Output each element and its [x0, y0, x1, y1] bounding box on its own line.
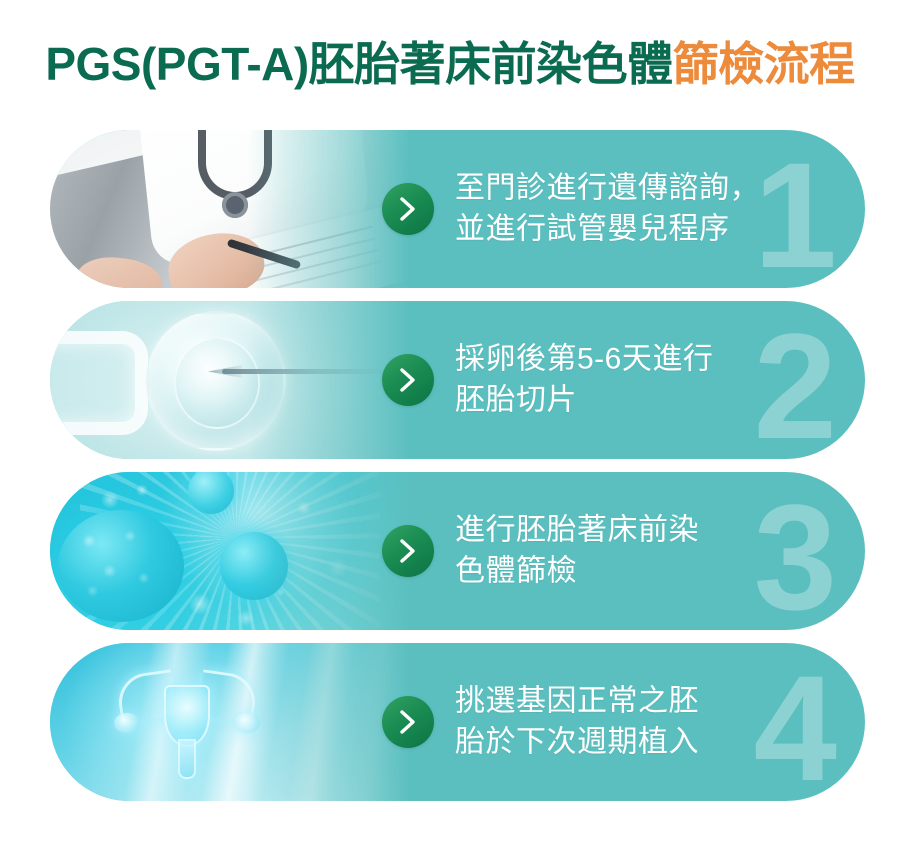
clipboard-shape	[196, 201, 410, 288]
lab-coat-shape	[139, 130, 373, 267]
step-text-3: 進行胚胎著床前染 色體篩檢	[455, 510, 699, 593]
infographic-page: PGS(PGT-A)胚胎著床前染色體篩檢流程 1	[0, 0, 900, 841]
page-title-main: PGS(PGT-A)胚胎著床前染色體	[45, 38, 672, 90]
oocyte-shape	[146, 311, 286, 451]
step-number-watermark-1: 1	[754, 140, 837, 288]
hand-shape	[163, 226, 268, 288]
step-number-watermark-3: 3	[754, 482, 837, 630]
step-text-2: 採卵後第5-6天進行 胚胎切片	[455, 339, 713, 422]
light-rays-shape	[80, 472, 380, 630]
light-streaks-shape	[50, 643, 410, 801]
page-title: PGS(PGT-A)胚胎著床前染色體篩檢流程	[0, 38, 900, 91]
blastocyst-cells-photo	[50, 472, 410, 630]
step-text-4: 挑選基因正常之胚 胎於下次週期植入	[455, 681, 699, 764]
pen-shape	[227, 238, 302, 269]
cell-large-shape	[58, 510, 184, 622]
stethoscope-icon	[198, 130, 272, 200]
doctor-consultation-photo	[50, 130, 410, 288]
step-card-2[interactable]: 2 採卵後第5-6天進行 胚胎切片	[50, 301, 865, 459]
cervix-shape	[178, 739, 196, 779]
step-list: 1 至門診進行遺傳諮詢， 並進行試管嬰兒程序 2	[50, 130, 865, 801]
embryo-biopsy-micropipette-photo	[50, 301, 410, 459]
chevron-right-icon[interactable]	[382, 183, 434, 235]
page-title-accent: 篩檢流程	[673, 38, 855, 90]
cell-medium-shape	[220, 532, 288, 600]
chevron-right-icon[interactable]	[382, 525, 434, 577]
ovary-right-shape	[234, 713, 260, 733]
fallopian-tube-left-shape	[115, 669, 177, 722]
oocyte-inner-shape	[174, 337, 260, 429]
cell-small-shape	[188, 472, 234, 514]
step-image-4	[50, 643, 410, 801]
laptop-shape	[50, 142, 200, 288]
step-image-2	[50, 301, 410, 459]
hand-shape-secondary	[74, 254, 165, 288]
fallopian-tube-right-shape	[197, 669, 259, 722]
step-number-watermark-4: 4	[754, 653, 837, 801]
uterus-body-shape	[164, 685, 210, 747]
step-card-3[interactable]: 3 進行胚胎著床前染 色體篩檢	[50, 472, 865, 630]
chevron-right-icon[interactable]	[382, 696, 434, 748]
bokeh-particles-shape	[50, 472, 410, 630]
ovary-left-shape	[114, 713, 140, 733]
step-number-watermark-2: 2	[754, 311, 837, 459]
step-image-3	[50, 472, 410, 630]
step-card-1[interactable]: 1 至門診進行遺傳諮詢， 並進行試管嬰兒程序	[50, 130, 865, 288]
chevron-right-icon[interactable]	[382, 354, 434, 406]
holding-pipette-shape	[50, 331, 148, 435]
needle-tip-shape	[208, 365, 242, 378]
step-text-1: 至門診進行遺傳諮詢， 並進行試管嬰兒程序	[455, 168, 760, 251]
uterus-implantation-photo	[50, 643, 410, 801]
stethoscope-head-icon	[222, 192, 248, 218]
uterus-icon	[112, 671, 262, 779]
step-image-1	[50, 130, 410, 288]
step-card-4[interactable]: 4 挑選基因正常之胚 胎於下次週期植入	[50, 643, 865, 801]
